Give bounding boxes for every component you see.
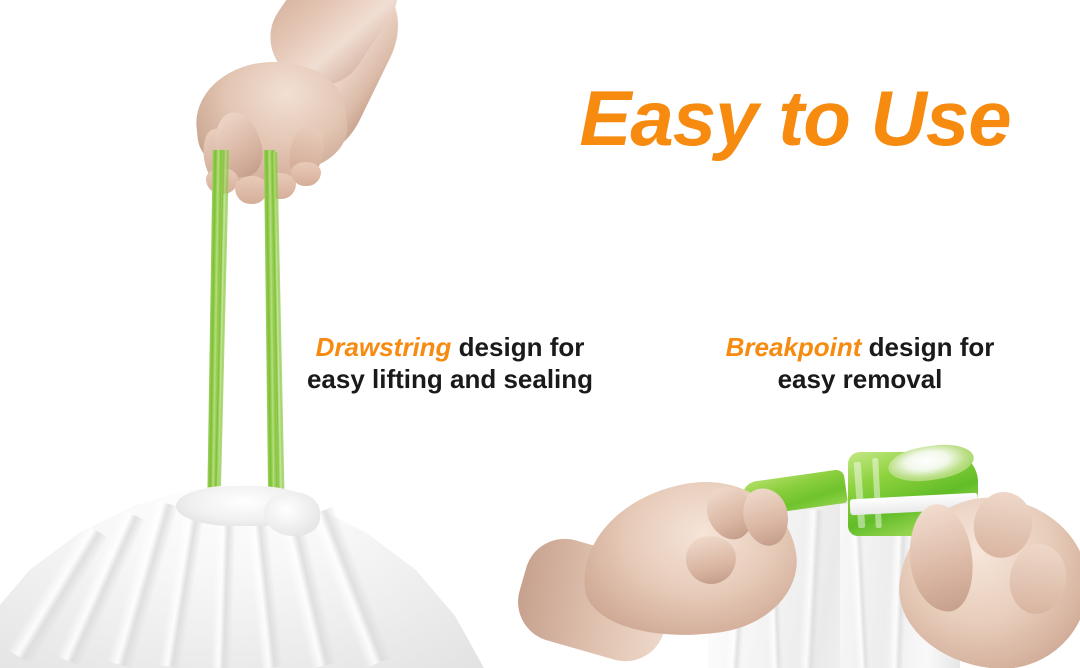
fingertip — [235, 176, 268, 204]
caption-line2: easy lifting and sealing — [307, 364, 593, 394]
caption-line1-rest: design for — [451, 332, 584, 362]
page-title: Easy to Use — [560, 78, 1030, 160]
fingertip — [291, 162, 321, 186]
caption-highlight: Breakpoint — [726, 332, 862, 362]
product-feature-banner: Easy to Use — [0, 0, 1080, 668]
breakpoint-photo — [590, 440, 1080, 668]
bag-cinch-gather — [264, 492, 320, 536]
caption-line1-rest: design for — [861, 332, 994, 362]
caption-highlight: Drawstring — [316, 332, 452, 362]
caption-breakpoint: Breakpoint design for easy removal — [700, 332, 1020, 395]
caption-drawstring: Drawstring design for easy lifting and s… — [290, 332, 610, 395]
caption-line2: easy removal — [778, 364, 943, 394]
